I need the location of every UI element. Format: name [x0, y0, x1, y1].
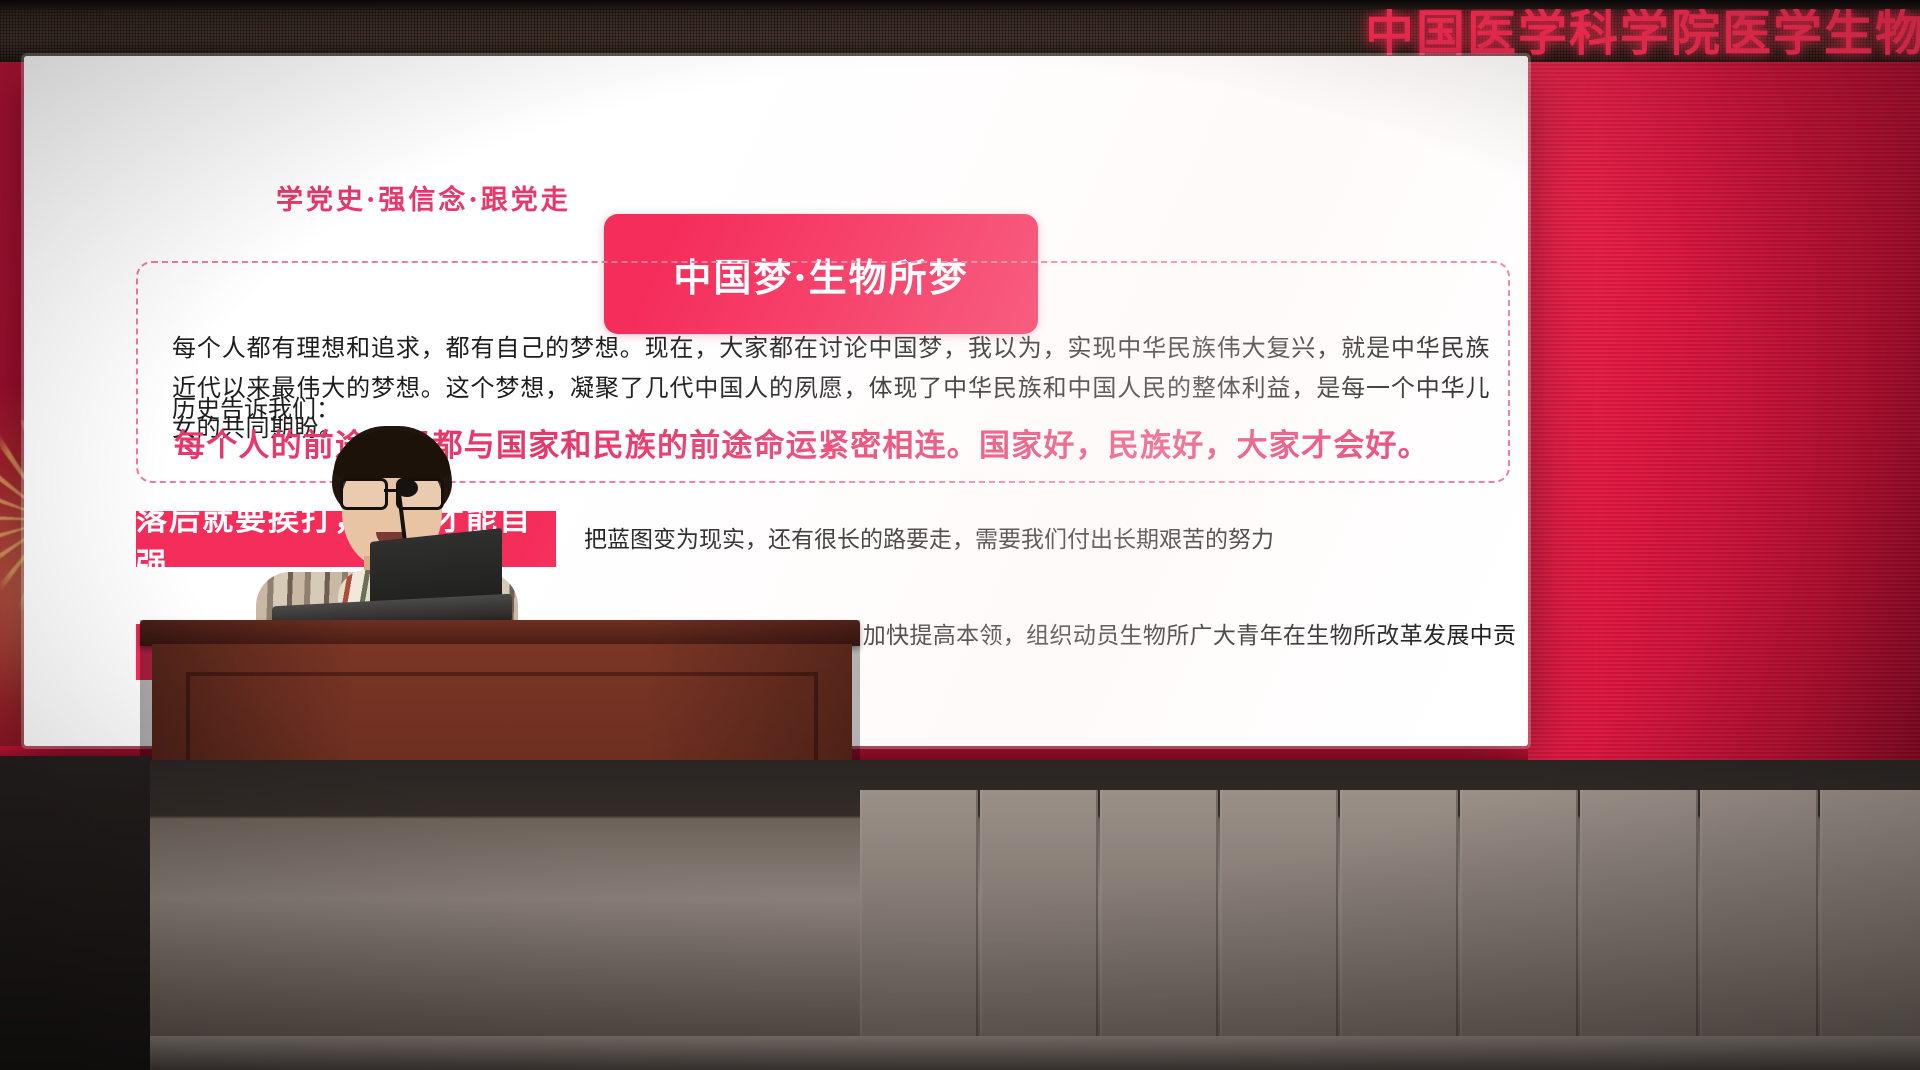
wall-panel-1 — [860, 790, 978, 1070]
led-banner-text: 中国医学科学院医学生物 — [1365, 6, 1920, 62]
presentation-room-photo: 中国医学科学院医学生物 学党史·强信念·跟党走 中国梦·生物所梦 每个人都有理想… — [0, 0, 1920, 1070]
stage-left-dark-area — [0, 756, 150, 1070]
led-banner: 中国医学科学院医学生物 — [0, 0, 1920, 62]
slide-note-right: 把蓝图变为现实，还有很长的路要走，需要我们付出长期艰苦的努力 — [584, 522, 1504, 558]
slide-eyebrow: 学党史·强信念·跟党走 — [276, 178, 571, 217]
wall-panel-8 — [1700, 790, 1818, 1070]
microphone-head-icon — [396, 479, 418, 497]
wall-panel-9 — [1820, 790, 1920, 1070]
speaker-fringe — [334, 430, 450, 478]
stage-floor-strip — [0, 1036, 1920, 1070]
wall-panel-6 — [1460, 790, 1578, 1070]
wall-panel-3 — [1100, 790, 1218, 1070]
backdrop-right-panel — [1528, 56, 1920, 760]
speaker-glasses-icon — [338, 478, 446, 504]
wall-panel-7 — [1580, 790, 1698, 1070]
wall-panel-5 — [1340, 790, 1458, 1070]
wall-panel-4 — [1220, 790, 1338, 1070]
wall-panel-2 — [980, 790, 1098, 1070]
